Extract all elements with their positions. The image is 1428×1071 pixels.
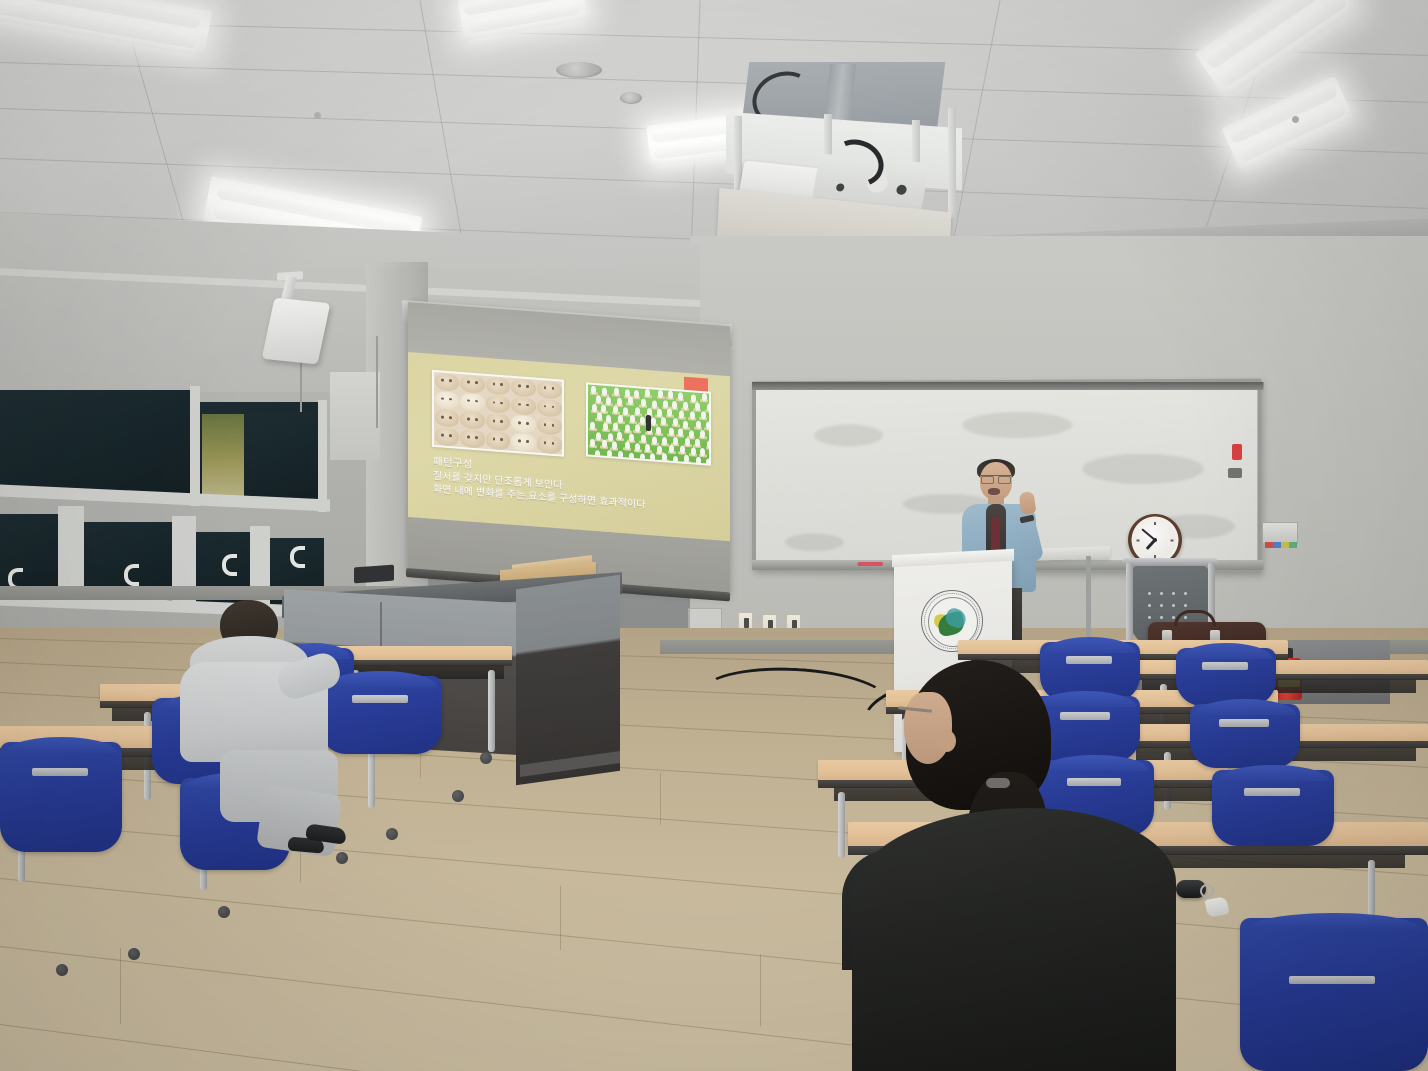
crowd-figure (662, 437, 667, 444)
sprinkler-icon (1292, 116, 1299, 123)
bun-cell (486, 376, 511, 395)
crowd-mat (672, 461, 680, 463)
crowd-mat (593, 456, 601, 460)
crowd-figure (592, 404, 597, 411)
bun-cell (460, 374, 485, 393)
crowd-figure (695, 402, 700, 409)
window-pane (244, 412, 324, 504)
crowd-figure (651, 418, 656, 425)
crowd-figure (679, 410, 684, 417)
crowd-mat (628, 458, 636, 462)
bun-cell (511, 433, 536, 452)
desk-caster (386, 828, 398, 840)
crowd-figure (590, 421, 595, 428)
crowd-figure (634, 390, 639, 397)
crowd-figure (663, 401, 668, 408)
crowd-figure (673, 455, 678, 462)
crowd-figure (635, 443, 640, 450)
crowd-figure (672, 400, 677, 407)
crowd-figure (618, 451, 623, 458)
whiteboard-clip[interactable] (1228, 468, 1242, 478)
crowd-figure (641, 435, 646, 442)
crowd-figure (613, 423, 618, 430)
crowd-figure (628, 397, 633, 404)
chair[interactable] (1240, 918, 1428, 1071)
crowd-figure (596, 395, 601, 402)
crowd-figure (640, 416, 645, 423)
crowd-figure (669, 427, 674, 434)
projection-screen: 패턴구성 질서를 갖지만 단조롭게 보인다 화면 내에 변화를 주는,요소를 구… (408, 302, 730, 596)
bun-cell (486, 431, 511, 450)
bun-cell (435, 372, 460, 391)
crowd-mat (648, 459, 656, 463)
crowd-figure (590, 439, 595, 446)
wall-control-panel[interactable] (1262, 522, 1298, 544)
crowd-figure (689, 430, 694, 437)
crowd-figure (661, 417, 666, 424)
crowd-figure (706, 421, 709, 428)
bun-cell (460, 429, 485, 448)
crowd-figure (608, 433, 613, 440)
crowd-figure (629, 452, 634, 459)
crowd-figure (685, 438, 690, 445)
crowd-figure (635, 407, 640, 414)
crowd-figure (707, 440, 709, 447)
bun-cell (460, 393, 485, 412)
bun-cell (537, 417, 562, 436)
crowd-figure (623, 407, 628, 414)
crowd-figure (617, 397, 622, 404)
bun-cell (537, 435, 562, 454)
crowd-figure (701, 411, 706, 418)
crowd-figure (678, 393, 683, 400)
crowd-figure (602, 388, 607, 395)
crowd-figure (700, 430, 705, 437)
smoke-detector-icon (556, 62, 602, 78)
chair[interactable] (1212, 770, 1334, 846)
bun-cell (435, 427, 460, 446)
crowd-figure (614, 387, 619, 394)
crowd-figure (690, 411, 695, 418)
crowd-standing-figure (646, 415, 651, 431)
crowd-figure (683, 420, 688, 427)
desk-caster (480, 752, 492, 764)
crowd-figure (657, 446, 662, 453)
crowd-figure (683, 402, 688, 409)
chair[interactable] (1190, 704, 1300, 768)
crowd-figure (667, 409, 672, 416)
crowd-figure (640, 453, 645, 460)
crowd-figure (601, 404, 606, 411)
whiteboard-top-rail (752, 382, 1263, 390)
crowd-figure (656, 427, 661, 434)
crowd-figure (641, 399, 646, 406)
crowd-figure (630, 415, 635, 422)
crowd-figure (650, 453, 655, 460)
bun-cell (537, 398, 562, 417)
window-mullion (318, 400, 327, 512)
desk-caster (128, 948, 140, 960)
crowd-figure (618, 415, 623, 422)
crowd-figure (613, 405, 618, 412)
crowd-figure (606, 415, 611, 422)
crowd-figure (696, 457, 701, 464)
crowd-mat (617, 457, 625, 461)
window-pane (0, 390, 192, 496)
crowd-figure (645, 444, 650, 451)
bun-cell (537, 380, 562, 399)
blind-cord[interactable] (376, 336, 378, 428)
crowd-figure (617, 432, 622, 439)
crowd-figure (625, 442, 630, 449)
crowd-figure (612, 442, 617, 449)
presenter-hand (1019, 491, 1037, 515)
crowd-figure (673, 418, 678, 425)
student-person-ponytail (846, 660, 1186, 1071)
student-person-gray-hoodie (168, 600, 368, 860)
classroom-scene: 패턴구성 질서를 갖지만 단조롭게 보인다 화면 내에 변화를 주는,요소를 구… (0, 0, 1428, 1071)
bun-cell (460, 411, 485, 430)
crowd-figure (596, 432, 601, 439)
crowd-figure (657, 409, 662, 416)
crowd-figure (635, 424, 640, 431)
window-latch-handle[interactable] (124, 564, 139, 586)
crowd-figure (706, 458, 709, 464)
whiteboard-magnet[interactable] (1232, 444, 1242, 460)
crowd-figure (625, 425, 630, 432)
desk-caster (56, 964, 68, 976)
crowd-figure (695, 439, 700, 446)
crowd-figure (696, 420, 701, 427)
presenter-side-table-leg (1086, 556, 1091, 648)
marker-red[interactable] (857, 562, 883, 566)
crowd-figure (673, 437, 678, 444)
student-face (904, 692, 952, 764)
glasses-icon (981, 475, 1011, 481)
crowd-figure (606, 397, 611, 404)
bun-cell (486, 413, 511, 432)
presenter-mouth (988, 488, 1000, 495)
window-latch-handle[interactable] (290, 546, 305, 568)
crowd-figure (678, 428, 683, 435)
crowd-figure (607, 449, 612, 456)
sprinkler-icon (314, 112, 321, 119)
crowd-figure (662, 453, 667, 460)
crowd-figure (668, 391, 673, 398)
crowd-figure (684, 455, 689, 462)
console-equipment[interactable] (354, 565, 394, 584)
bun-cell (511, 415, 536, 434)
bun-cell (435, 391, 460, 410)
crowd-figure (602, 440, 607, 447)
crowd-figure (595, 450, 600, 457)
bun-cell (435, 409, 460, 428)
crowd-figure (680, 446, 685, 453)
crowd-figure (691, 447, 696, 454)
window-bright-pane (202, 414, 244, 498)
slide-image-crowd (586, 382, 711, 465)
slide-image-buns (432, 370, 564, 457)
chair[interactable] (1176, 648, 1276, 706)
crowd-mat (638, 459, 646, 463)
crowd-figure (707, 403, 709, 410)
window-latch-handle[interactable] (222, 554, 237, 576)
crowd-figure (625, 389, 630, 396)
crowd-figure (652, 400, 657, 407)
bun-cell (486, 395, 511, 414)
slide-text-block: 패턴구성 질서를 갖지만 단조롭게 보인다 화면 내에 변화를 주는,요소를 구… (433, 456, 713, 517)
crowd-figure (645, 389, 650, 396)
crowd-figure (652, 436, 657, 443)
desk-caster (218, 906, 230, 918)
crowd-figure (597, 413, 602, 420)
student-torso (852, 808, 1176, 1071)
crowd-figure (658, 390, 663, 397)
window-blind[interactable] (330, 372, 380, 460)
bun-cell (511, 378, 536, 397)
bun-cell (511, 397, 536, 416)
window-mullion (190, 386, 200, 506)
smoke-detector-icon (620, 92, 642, 104)
crowd-figure (591, 385, 596, 392)
crowd-figure (691, 394, 696, 401)
crowd-figure (702, 393, 707, 400)
crowd-figure (603, 422, 608, 429)
crowd-figure (629, 433, 634, 440)
desk-caster (452, 790, 464, 802)
student-ear (938, 730, 956, 752)
hair-tie (986, 778, 1010, 788)
crowd-figure (669, 445, 674, 452)
slide-content: 패턴구성 질서를 갖지만 단조롭게 보인다 화면 내에 변화를 주는,요소를 구… (408, 352, 730, 541)
chair[interactable] (0, 742, 122, 852)
